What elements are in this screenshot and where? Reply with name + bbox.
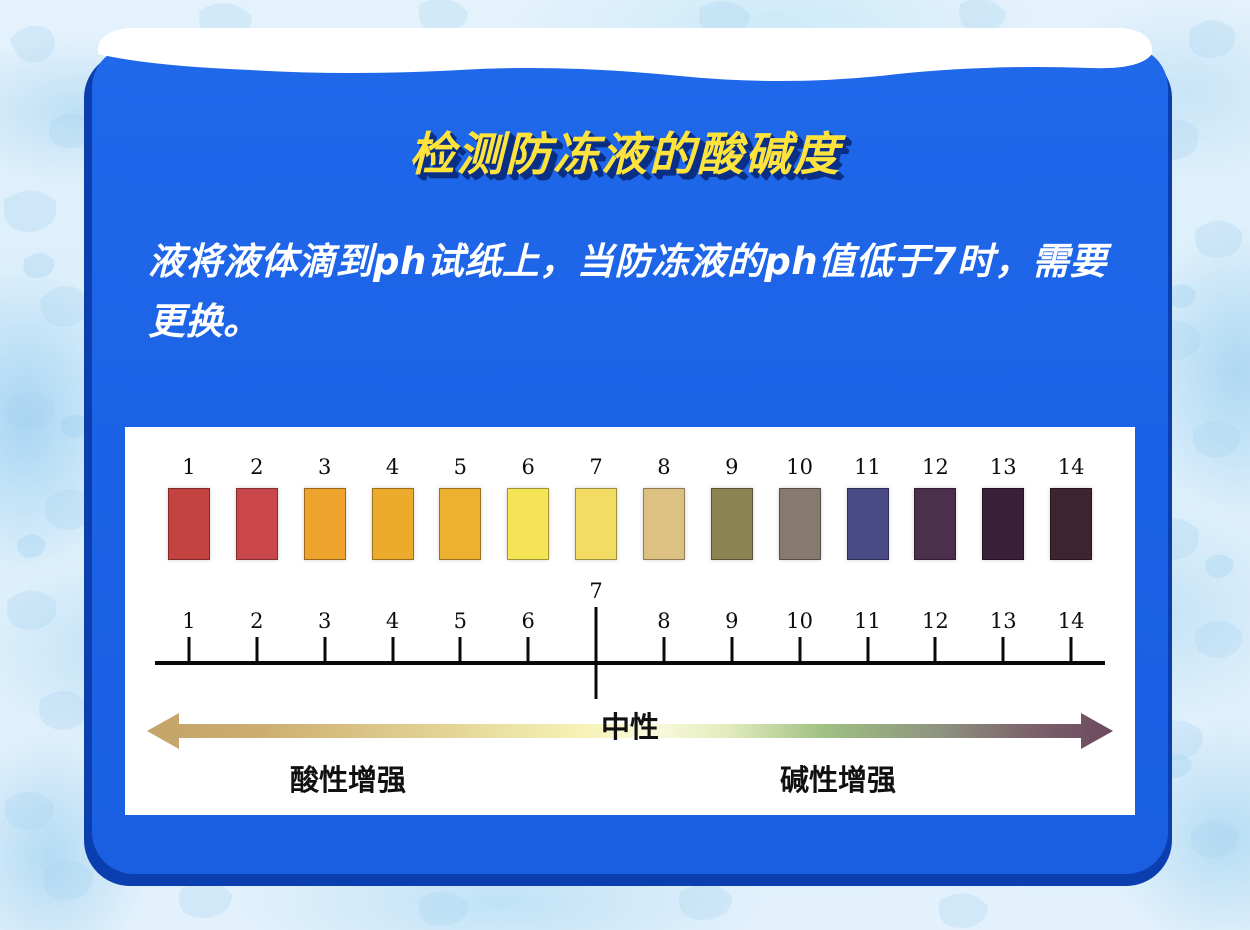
ph-color-swatch [982, 488, 1024, 560]
ph-color-swatch [575, 488, 617, 560]
ph-chart-card: 1234567891011121314 1234567891011121314 [125, 427, 1135, 815]
axis-tick-mark [187, 637, 190, 663]
axis-tick-mark [323, 637, 326, 663]
axis-tick: 10 [766, 579, 834, 699]
axis-tick: 3 [291, 579, 359, 699]
acidic-label: 酸性增强 [290, 757, 406, 799]
ph-strip-number: 14 [1037, 455, 1105, 479]
axis-tick-label: 14 [1058, 609, 1085, 633]
axis-tick-group: 1234567891011121314 [155, 579, 1105, 699]
axis-tick-mark [866, 637, 869, 663]
ph-swatch-cell [359, 488, 427, 560]
axis-tick: 4 [359, 579, 427, 699]
ph-swatch-cell [1037, 488, 1105, 560]
ph-strip-number: 3 [291, 455, 359, 479]
axis-tick: 13 [969, 579, 1037, 699]
ph-color-swatch [507, 488, 549, 560]
axis-tick: 12 [901, 579, 969, 699]
ph-strip-number: 4 [359, 455, 427, 479]
slide-root: 检测防冻液的酸碱度 液将液体滴到ph试纸上，当防冻液的ph值低于7时，需要更换。… [0, 0, 1250, 930]
body-paragraph: 液将液体滴到ph试纸上，当防冻液的ph值低于7时，需要更换。 [148, 232, 1116, 352]
axis-tick-mark [255, 637, 258, 663]
ph-strip-number: 6 [494, 455, 562, 479]
ph-color-swatch [779, 488, 821, 560]
axis-tick-label: 2 [250, 609, 263, 633]
axis-tick: 1 [155, 579, 223, 699]
axis-tick-mark [1070, 637, 1073, 663]
neutral-label: 中性 [125, 704, 1135, 746]
ph-swatch-cell [426, 488, 494, 560]
ph-strip-number: 7 [562, 455, 630, 479]
ph-strip-number: 9 [698, 455, 766, 479]
axis-tick: 5 [426, 579, 494, 699]
axis-tick-mark [595, 607, 598, 699]
ph-color-swatch-row [155, 485, 1105, 563]
ph-swatch-cell [155, 488, 223, 560]
ph-swatch-cell [223, 488, 291, 560]
axis-tick: 11 [834, 579, 902, 699]
axis-tick-label: 9 [725, 609, 738, 633]
ph-strip-number: 13 [969, 455, 1037, 479]
ph-strip-number: 8 [630, 455, 698, 479]
ph-color-swatch [643, 488, 685, 560]
ph-strip-number: 10 [766, 455, 834, 479]
ph-color-swatch [711, 488, 753, 560]
ph-swatch-cell [698, 488, 766, 560]
ph-color-swatch [236, 488, 278, 560]
ph-swatch-cell [766, 488, 834, 560]
ph-swatch-cell [834, 488, 902, 560]
ph-strip-number: 5 [426, 455, 494, 479]
ph-strip-number: 2 [223, 455, 291, 479]
axis-tick-mark [798, 637, 801, 663]
axis-tick-label: 10 [786, 609, 813, 633]
axis-tick-mark [459, 637, 462, 663]
axis-tick-mark [1002, 637, 1005, 663]
ph-swatch-cell [291, 488, 359, 560]
axis-tick: 2 [223, 579, 291, 699]
ph-strip-number: 1 [155, 455, 223, 479]
axis-tick-label: 5 [454, 609, 467, 633]
ph-color-swatch [372, 488, 414, 560]
basic-label: 碱性增强 [780, 757, 896, 799]
ph-color-swatch [914, 488, 956, 560]
ph-swatch-cell [494, 488, 562, 560]
ph-color-swatch [439, 488, 481, 560]
axis-tick-label: 12 [922, 609, 949, 633]
axis-tick-mark [527, 637, 530, 663]
axis-tick-label: 4 [386, 609, 399, 633]
ph-swatch-cell [969, 488, 1037, 560]
axis-tick-label: 3 [318, 609, 331, 633]
ph-swatch-cell [562, 488, 630, 560]
axis-tick: 9 [698, 579, 766, 699]
ph-number-line: 1234567891011121314 [155, 579, 1105, 699]
axis-tick-label: 6 [522, 609, 535, 633]
axis-tick-mark [730, 637, 733, 663]
axis-tick-mark [662, 637, 665, 663]
page-title: 检测防冻液的酸碱度 [0, 118, 1250, 184]
ph-strip-number: 11 [834, 455, 902, 479]
axis-tick-label: 7 [589, 579, 602, 603]
ph-strip-number: 12 [901, 455, 969, 479]
axis-tick-mark [391, 637, 394, 663]
ph-swatch-cell [901, 488, 969, 560]
axis-tick: 8 [630, 579, 698, 699]
axis-tick-mark [934, 637, 937, 663]
axis-tick-label: 11 [854, 609, 881, 633]
axis-tick-label: 8 [657, 609, 670, 633]
axis-tick-label: 13 [990, 609, 1017, 633]
ph-color-swatch [1050, 488, 1092, 560]
axis-tick: 14 [1037, 579, 1105, 699]
ph-color-swatch [847, 488, 889, 560]
ph-color-swatch [304, 488, 346, 560]
axis-tick: 6 [494, 579, 562, 699]
ph-color-swatch [168, 488, 210, 560]
axis-tick-label: 1 [182, 609, 195, 633]
axis-tick: 7 [562, 579, 630, 699]
ph-swatch-cell [630, 488, 698, 560]
ph-strip-number-row: 1234567891011121314 [155, 455, 1105, 479]
